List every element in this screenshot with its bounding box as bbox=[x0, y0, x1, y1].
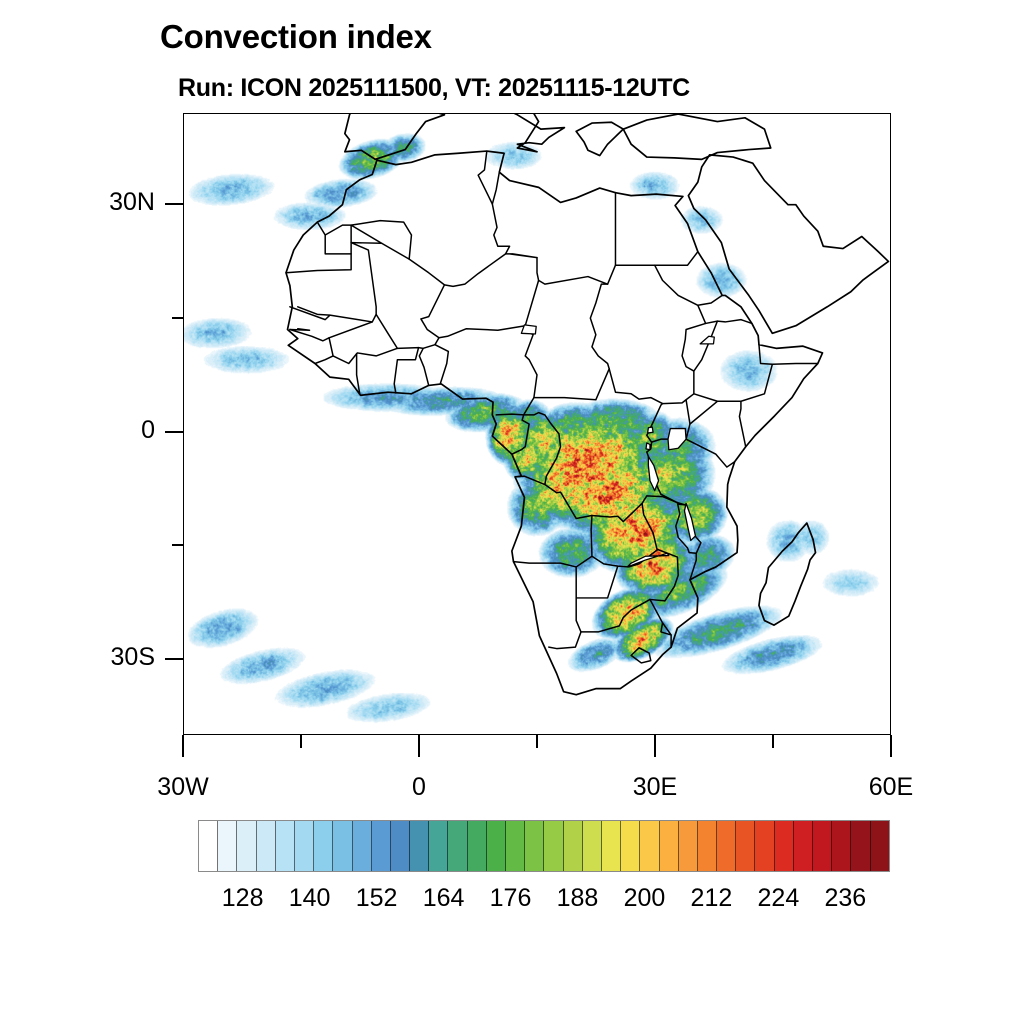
x-axis-tick-label: 30W bbox=[123, 773, 243, 802]
colorbar-cell bbox=[218, 821, 237, 871]
y-axis-major-tick bbox=[165, 203, 183, 205]
colorbar-cell bbox=[832, 821, 851, 871]
colorbar-cell bbox=[621, 821, 640, 871]
colorbar-cell bbox=[660, 821, 679, 871]
colorbar-cell bbox=[199, 821, 218, 871]
x-axis-minor-tick bbox=[300, 735, 302, 748]
x-axis-minor-tick bbox=[536, 735, 538, 748]
x-axis-major-tick bbox=[890, 735, 892, 757]
colorbar-cell bbox=[372, 821, 391, 871]
page-title: Convection index bbox=[160, 18, 432, 56]
colorbar-cell bbox=[429, 821, 448, 871]
colorbar-cell bbox=[333, 821, 352, 871]
colorbar-cell bbox=[717, 821, 736, 871]
colorbar-cell bbox=[295, 821, 314, 871]
colorbar-cell bbox=[391, 821, 410, 871]
colorbar-cell bbox=[544, 821, 563, 871]
colorbar-cell bbox=[755, 821, 774, 871]
colorbar-cell bbox=[775, 821, 794, 871]
colorbar-cell bbox=[679, 821, 698, 871]
colorbar-cell bbox=[276, 821, 295, 871]
colorbar-cell bbox=[813, 821, 832, 871]
colorbar-cell bbox=[410, 821, 429, 871]
colorbar-cell bbox=[851, 821, 870, 871]
colorbar-cell bbox=[237, 821, 256, 871]
colorbar-cell bbox=[794, 821, 813, 871]
x-axis-major-tick bbox=[182, 735, 184, 757]
y-axis-major-tick bbox=[165, 658, 183, 660]
colorbar-cell bbox=[314, 821, 333, 871]
colorbar-cell bbox=[525, 821, 544, 871]
colorbar-cell bbox=[583, 821, 602, 871]
colorbar-cell bbox=[353, 821, 372, 871]
colorbar-cell bbox=[871, 821, 889, 871]
colorbar-cell bbox=[698, 821, 717, 871]
map-borders-overlay bbox=[184, 114, 890, 734]
colorbar-tick-label: 236 bbox=[805, 884, 885, 913]
y-axis-major-tick bbox=[165, 431, 183, 433]
y-axis-tick-label: 0 bbox=[43, 416, 155, 445]
map-plot-area[interactable] bbox=[183, 113, 891, 735]
colorbar-cell bbox=[257, 821, 276, 871]
y-axis-minor-tick bbox=[172, 544, 183, 546]
colorbar-cell bbox=[564, 821, 583, 871]
colorbar-cell bbox=[640, 821, 659, 871]
x-axis-minor-tick bbox=[772, 735, 774, 748]
colorbar-cell bbox=[448, 821, 467, 871]
y-axis-minor-tick bbox=[172, 317, 183, 319]
run-subtitle: Run: ICON 2025111500, VT: 20251115-12UTC bbox=[178, 74, 690, 103]
x-axis-major-tick bbox=[418, 735, 420, 757]
colorbar-cell bbox=[487, 821, 506, 871]
y-axis-tick-label: 30N bbox=[43, 188, 155, 217]
x-axis-tick-label: 60E bbox=[831, 773, 951, 802]
x-axis-tick-label: 0 bbox=[359, 773, 479, 802]
colorbar-cell bbox=[602, 821, 621, 871]
colorbar-cell bbox=[736, 821, 755, 871]
x-axis-tick-label: 30E bbox=[595, 773, 715, 802]
colorbar-cell bbox=[506, 821, 525, 871]
y-axis-tick-label: 30S bbox=[43, 643, 155, 672]
colorbar-cell bbox=[468, 821, 487, 871]
colorbar[interactable] bbox=[198, 820, 890, 872]
x-axis-major-tick bbox=[654, 735, 656, 757]
